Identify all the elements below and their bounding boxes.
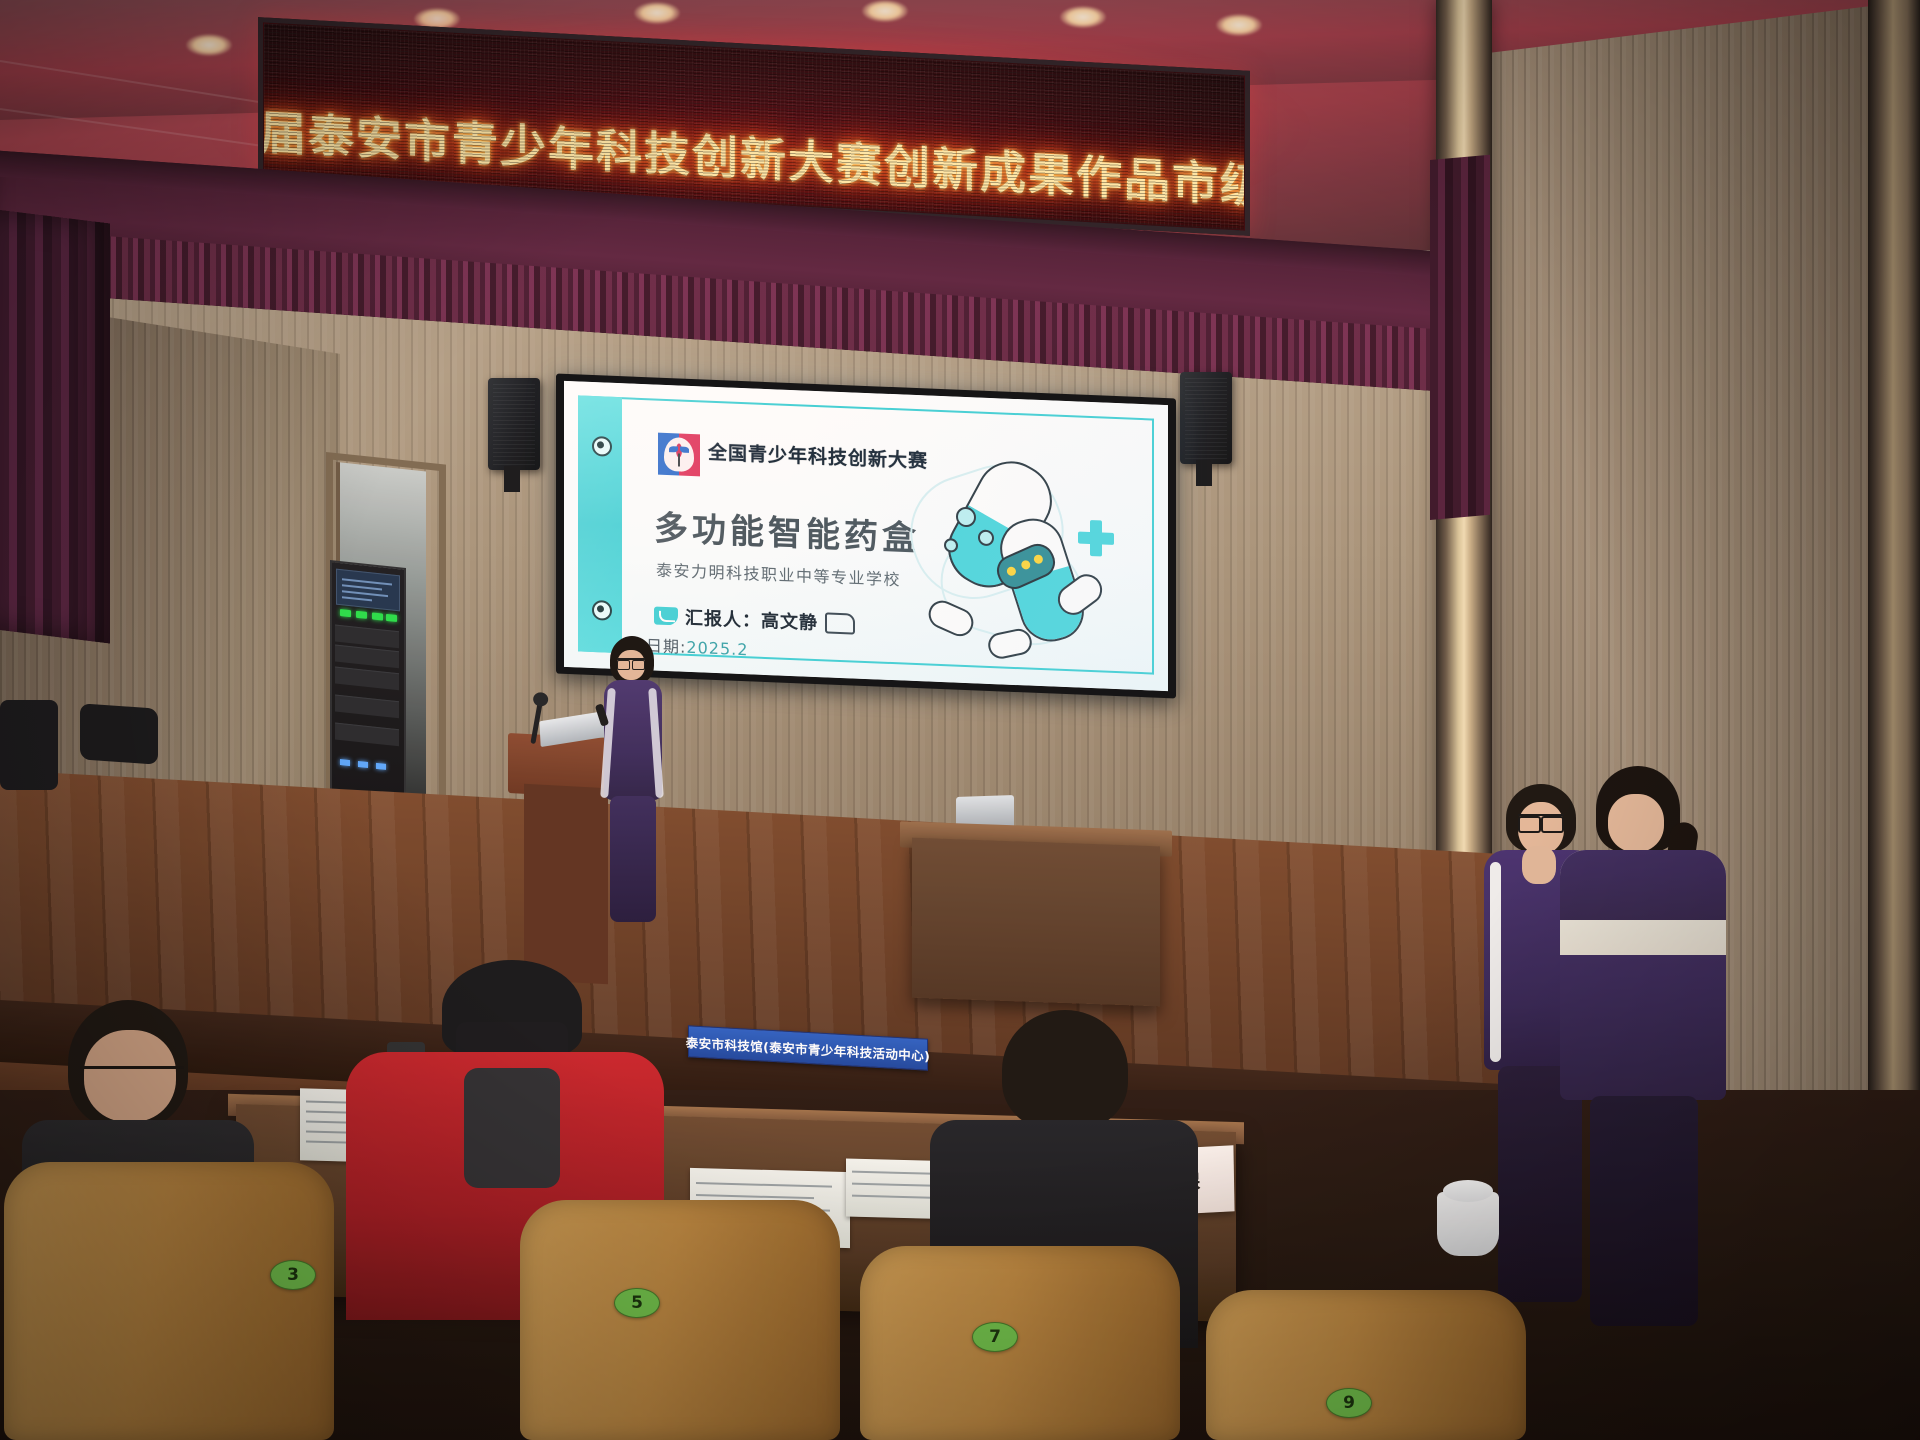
quote-close-icon — [825, 612, 855, 634]
rack-unit — [335, 667, 399, 691]
pillbox-illustration — [900, 448, 1130, 667]
logo-leaf-right — [680, 447, 689, 453]
seat-number-badge: 7 — [972, 1322, 1018, 1352]
slide-content: 全国青少年科技创新大赛 多功能智能药盒 泰安力明科技职业中等专业学校 汇报人：高… — [584, 402, 1148, 671]
presenter-person — [596, 636, 668, 936]
slide-school-name: 泰安力明科技职业中等专业学校 — [656, 557, 901, 591]
presenter-legs — [610, 796, 656, 922]
student-legs — [1590, 1096, 1698, 1326]
speaker-grill — [1185, 377, 1227, 459]
seat-back — [520, 1200, 840, 1440]
av-equipment-rack — [330, 560, 406, 822]
speaker-mount — [504, 466, 520, 492]
wall-speaker-right — [1180, 372, 1232, 464]
rack-status-led — [356, 611, 367, 619]
rack-unit — [335, 695, 399, 719]
bubble-dot — [944, 538, 958, 553]
logo-stem — [678, 453, 680, 466]
seat-number-badge: 3 — [270, 1260, 316, 1290]
seat-back — [4, 1162, 334, 1440]
rack-display-screen — [336, 569, 400, 612]
downlight — [862, 0, 908, 22]
rack-power-led — [358, 761, 368, 768]
rack-status-led — [372, 612, 383, 620]
student-glasses — [1518, 814, 1564, 829]
seat-back — [1206, 1290, 1526, 1440]
floor-bag — [80, 703, 158, 764]
stage-curtain-left — [0, 210, 110, 644]
medical-plus-icon — [1078, 520, 1114, 557]
slide-org-header: 全国青少年科技创新大赛 — [708, 438, 928, 474]
seat-number-badge: 5 — [614, 1288, 660, 1318]
slide-presenter-row: 汇报人：高文静 — [654, 602, 855, 636]
logo-leaf-left — [669, 446, 678, 452]
audience-seat[interactable]: 3 — [4, 1162, 334, 1440]
person-glasses — [80, 1066, 184, 1091]
rack-power-led — [376, 763, 386, 770]
audience-seat[interactable]: 9 — [1206, 1290, 1526, 1440]
jacket-stripe — [1490, 862, 1501, 1062]
slide-date-value: 2025.2 — [686, 638, 748, 659]
person-head — [1002, 1010, 1128, 1130]
rack-unit — [335, 645, 399, 669]
floor-bag — [0, 700, 58, 790]
student-jacket-shoulders — [1560, 850, 1726, 920]
downlight — [1060, 6, 1106, 28]
downlight — [634, 2, 680, 24]
rack-status-led — [340, 609, 351, 617]
jacket-hood — [464, 1068, 560, 1188]
auditorium-scene: 第39届泰安市青少年科技创新大赛创新成果作品市级终评 — [0, 0, 1920, 1440]
audience-seat[interactable]: 7 — [860, 1246, 1180, 1440]
speaker-grill — [493, 383, 535, 465]
quote-open-icon — [654, 606, 678, 625]
stage-table — [912, 838, 1160, 1007]
white-lidded-cup — [1437, 1192, 1499, 1256]
seat-number-badge: 9 — [1326, 1388, 1372, 1418]
stage-curtain-right — [1430, 155, 1490, 520]
seat-back — [860, 1246, 1180, 1440]
youth-science-competition-logo — [658, 433, 700, 477]
rack-unit — [335, 723, 399, 747]
downlight — [186, 34, 232, 56]
bubble-dot — [978, 529, 994, 546]
student-face — [1608, 794, 1664, 852]
student-person-right — [1560, 766, 1730, 1326]
audience-seat[interactable]: 5 — [520, 1200, 840, 1440]
slide-main-title: 多功能智能药盒 — [654, 500, 920, 560]
wall-speaker-left — [488, 378, 540, 470]
slide-presenter-label: 汇报人：高文静 — [685, 604, 818, 635]
presenter-glasses — [617, 658, 645, 668]
speaker-mount — [1196, 460, 1212, 486]
bubble-dot — [956, 507, 976, 528]
downlight — [1216, 14, 1262, 36]
student-hand — [1522, 846, 1556, 884]
rack-power-led — [340, 759, 350, 766]
rack-status-led — [386, 614, 397, 622]
